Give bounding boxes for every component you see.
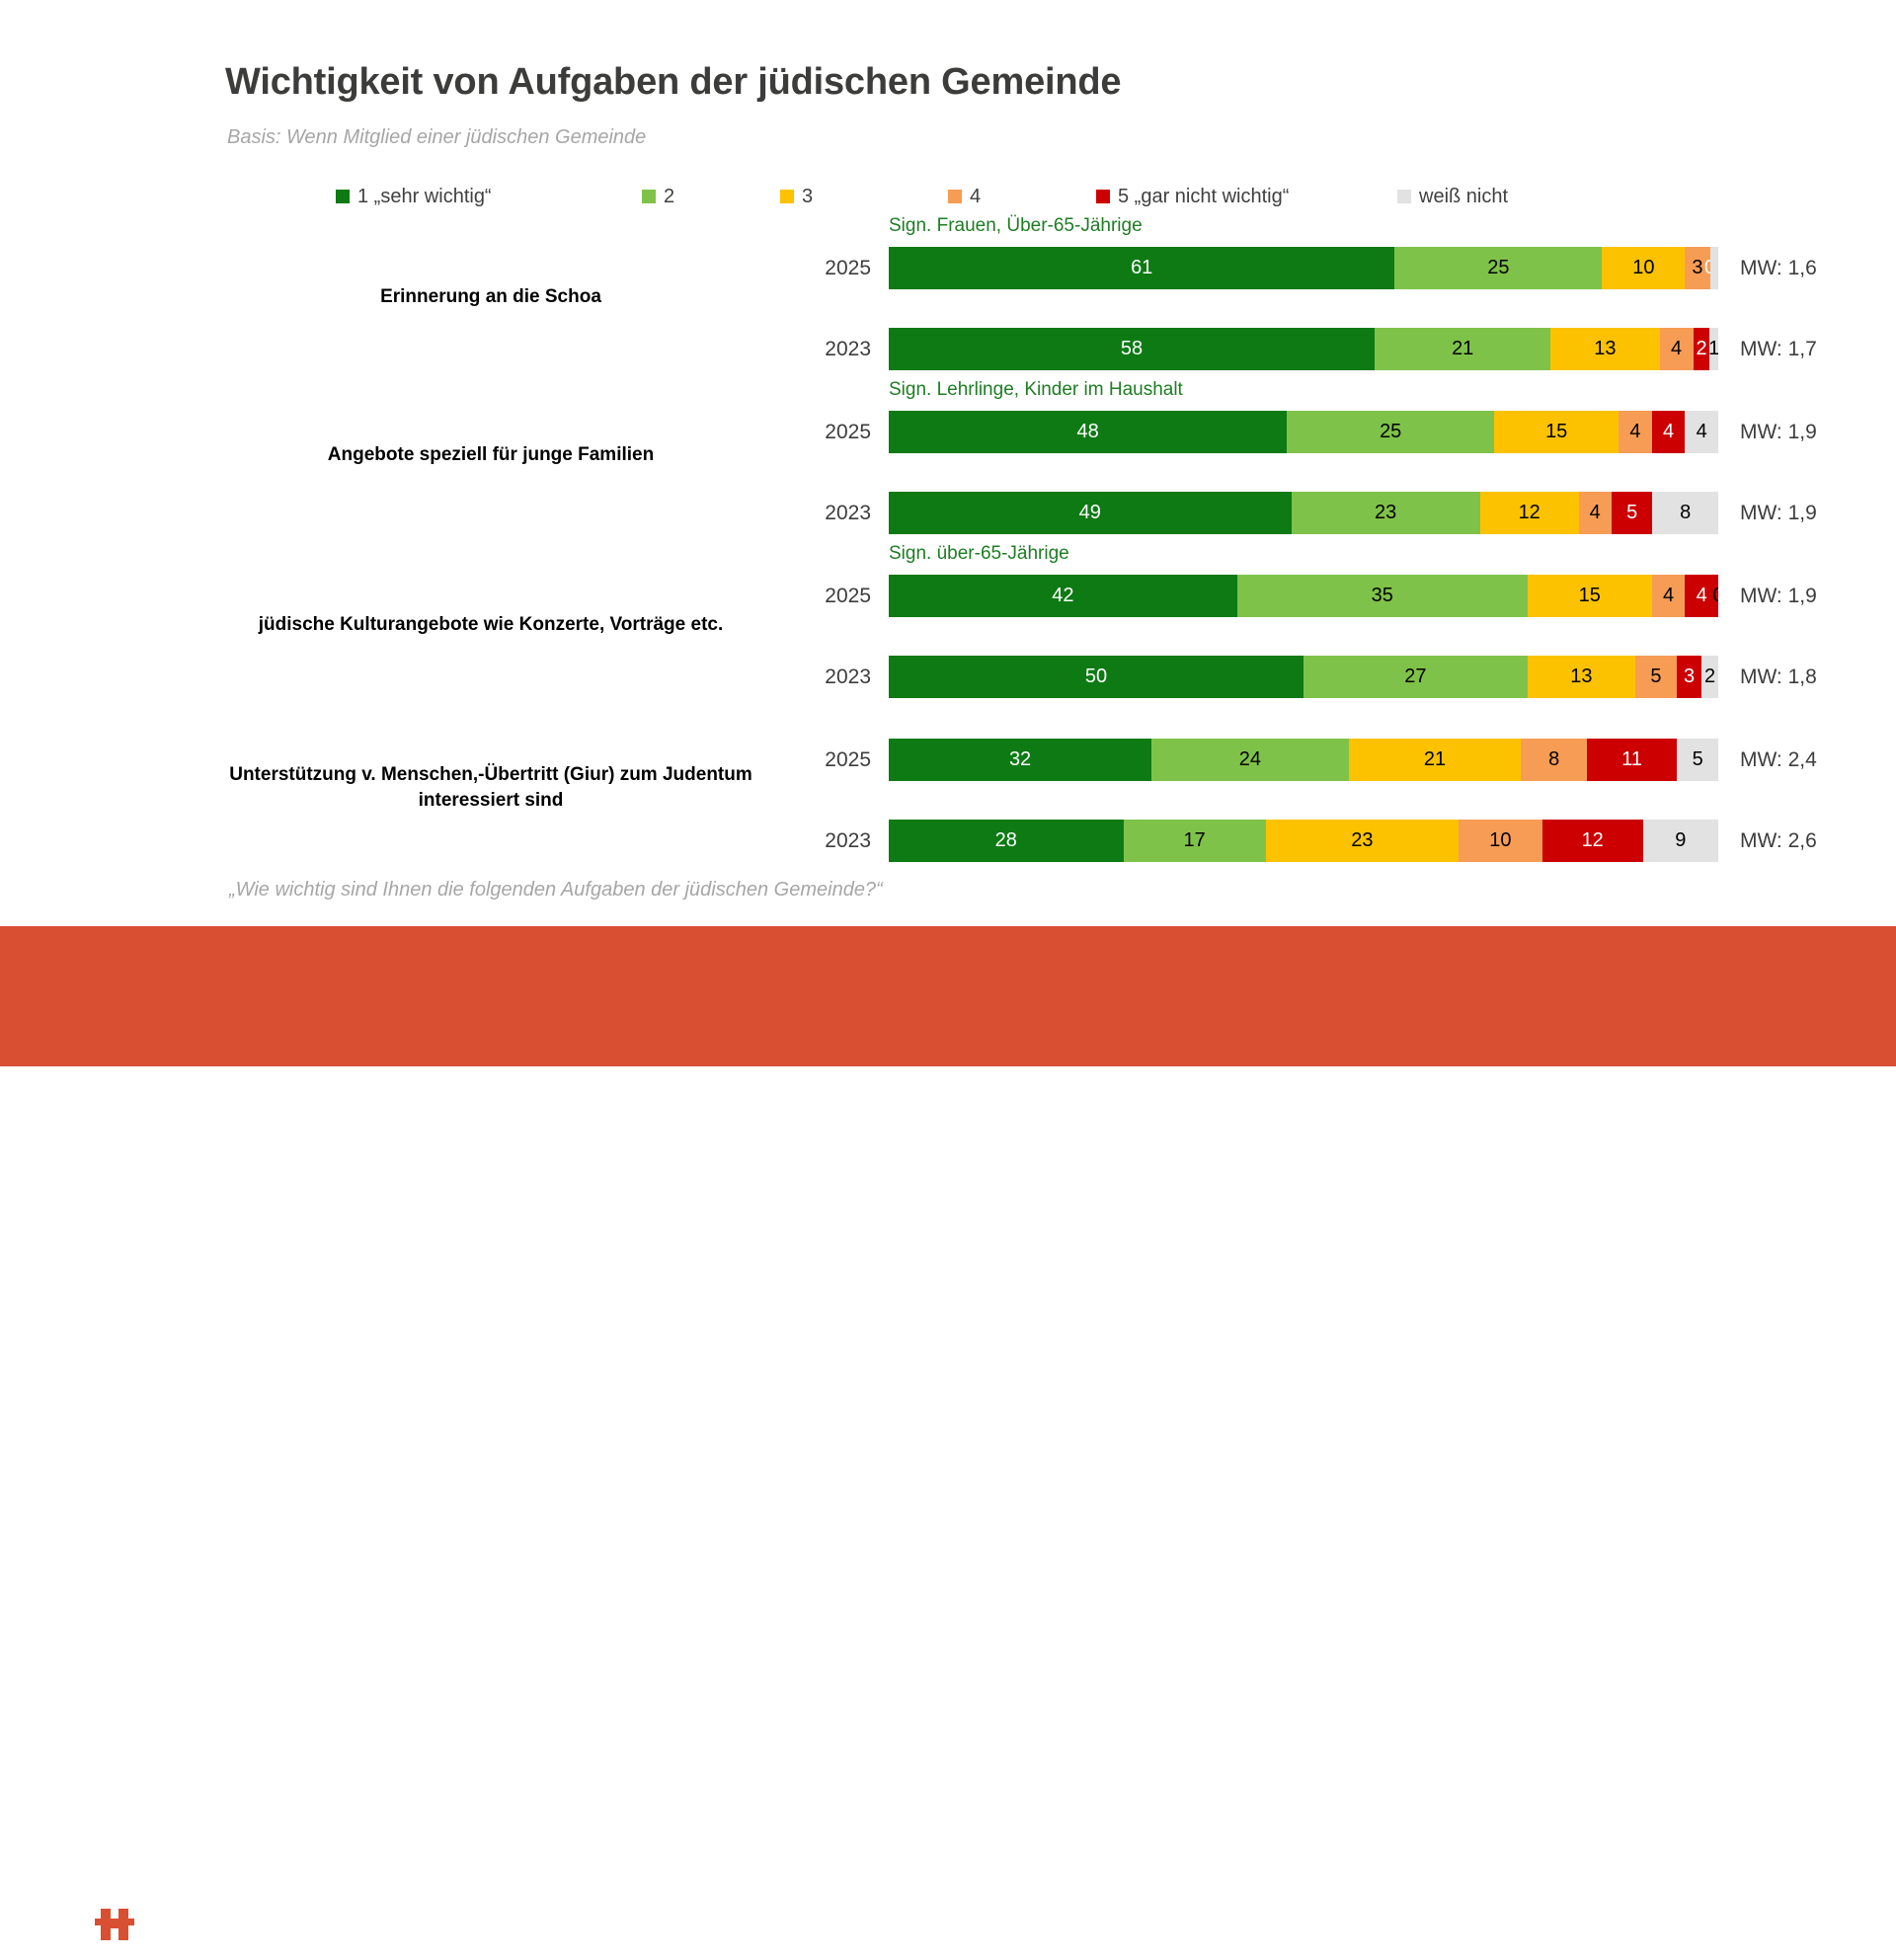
bar-segment[interactable]: 50 — [889, 656, 1303, 698]
chart-plot-area: Erinnerung an die SchoaSign. Frauen, Übe… — [0, 0, 1896, 1066]
category-label: Unterstützung v. Menschen,-Übertritt (Gi… — [229, 762, 752, 813]
bar-segment[interactable]: 4 — [1652, 575, 1686, 617]
mean-value-label: MW: 1,6 — [1740, 257, 1817, 280]
bar-segment[interactable]: 9 — [1643, 820, 1718, 862]
bar-segment[interactable]: 28 — [889, 820, 1124, 862]
bar-segment[interactable]: 12 — [1480, 492, 1579, 534]
bar-segment[interactable]: 4 — [1660, 328, 1694, 370]
category-label: jüdische Kulturangebote wie Konzerte, Vo… — [229, 612, 752, 638]
bar-segment[interactable]: 10 — [1459, 820, 1542, 862]
bar-segment[interactable]: 12 — [1542, 820, 1643, 862]
mean-value-label: MW: 1,7 — [1740, 338, 1817, 361]
bar-segment[interactable]: 4 — [1619, 411, 1652, 453]
bar-segment[interactable]: 21 — [1349, 739, 1522, 781]
bar-segment[interactable]: 2 — [1694, 328, 1710, 370]
bar-segment[interactable]: 8 — [1521, 739, 1587, 781]
peter-hajek-logo-icon — [79, 1889, 150, 1960]
chart-footnote: „Wie wichtig sind Ihnen die folgenden Au… — [229, 879, 883, 902]
significance-note: Sign. Frauen, Über-65-Jährige — [889, 215, 1143, 237]
bar-segment[interactable]: 21 — [1375, 328, 1550, 370]
brand-name: Peter Hajek — [195, 1896, 425, 1934]
mean-value-label: MW: 2,6 — [1740, 829, 1817, 853]
stacked-bar-row[interactable]: 492312458 — [889, 492, 1718, 534]
category-label: Angebote speziell für junge Familien — [229, 442, 752, 468]
brand-bar: Peter Hajek Public Opinion Strategies — [0, 926, 1896, 1066]
mean-value-label: MW: 1,8 — [1740, 666, 1817, 689]
year-label: 2023 — [782, 829, 871, 853]
bar-segment[interactable]: 58 — [889, 328, 1375, 370]
stacked-bar-row[interactable]: 423515440 — [889, 575, 1718, 617]
bar-segment[interactable]: 23 — [1292, 492, 1480, 534]
bar-segment[interactable]: 42 — [889, 575, 1237, 617]
mean-value-label: MW: 1,9 — [1740, 502, 1817, 525]
stacked-bar-row[interactable]: 3224218115 — [889, 739, 1718, 781]
bar-segment[interactable]: 2 — [1701, 656, 1718, 698]
brand-tagline: Public Opinion Strategies — [197, 1943, 410, 1957]
bar-segment[interactable]: 4 — [1579, 492, 1612, 534]
bar-segment[interactable]: 25 — [1394, 247, 1602, 289]
bar-segment[interactable]: 5 — [1677, 739, 1718, 781]
category-label: Erinnerung an die Schoa — [229, 284, 752, 310]
bar-segment[interactable]: 23 — [1266, 820, 1459, 862]
stacked-bar-row[interactable]: 61251030 — [889, 247, 1718, 289]
significance-note: Sign. über-65-Jährige — [889, 543, 1069, 565]
bar-segment[interactable]: 8 — [1652, 492, 1718, 534]
bar-segment[interactable]: 5 — [1612, 492, 1653, 534]
significance-note: Sign. Lehrlinge, Kinder im Haushalt — [889, 379, 1183, 401]
year-label: 2025 — [782, 421, 871, 444]
year-label: 2023 — [782, 502, 871, 525]
year-label: 2025 — [782, 585, 871, 608]
bar-segment[interactable]: 61 — [889, 247, 1394, 289]
bar-segment[interactable]: 25 — [1287, 411, 1494, 453]
year-label: 2023 — [782, 666, 871, 689]
bar-segment[interactable]: 3 — [1677, 656, 1701, 698]
bar-segment[interactable]: 15 — [1528, 575, 1652, 617]
slide: Wichtigkeit von Aufgaben der jüdischen G… — [0, 0, 1896, 1066]
mean-value-label: MW: 2,4 — [1740, 748, 1817, 772]
bar-segment[interactable]: 15 — [1494, 411, 1619, 453]
bar-segment[interactable]: 35 — [1237, 575, 1528, 617]
stacked-bar-row[interactable]: 582113421 — [889, 328, 1718, 370]
bar-segment[interactable] — [1710, 247, 1718, 289]
bar-segment[interactable]: 4 — [1652, 411, 1686, 453]
stacked-bar-row[interactable]: 482515444 — [889, 411, 1718, 453]
bar-segment[interactable]: 5 — [1635, 656, 1677, 698]
stacked-bar-row[interactable]: 502713532 — [889, 656, 1718, 698]
year-label: 2023 — [782, 338, 871, 361]
bar-segment[interactable]: 13 — [1528, 656, 1635, 698]
stacked-bar-row[interactable]: 28172310129 — [889, 820, 1718, 862]
bar-segment[interactable]: 13 — [1550, 328, 1659, 370]
bar-segment[interactable]: 32 — [889, 739, 1151, 781]
bar-segment[interactable]: 17 — [1124, 820, 1266, 862]
bar-segment[interactable]: 11 — [1587, 739, 1677, 781]
bar-segment[interactable]: 24 — [1151, 739, 1349, 781]
year-label: 2025 — [782, 748, 871, 772]
bar-segment[interactable]: 1 — [1709, 328, 1717, 370]
bar-segment[interactable]: 49 — [889, 492, 1292, 534]
bar-segment[interactable]: 27 — [1303, 656, 1528, 698]
bar-segment[interactable]: 48 — [889, 411, 1287, 453]
mean-value-label: MW: 1,9 — [1740, 585, 1817, 608]
bar-segment[interactable]: 10 — [1602, 247, 1685, 289]
mean-value-label: MW: 1,9 — [1740, 421, 1817, 444]
year-label: 2025 — [782, 257, 871, 280]
bar-segment[interactable]: 4 — [1685, 411, 1718, 453]
